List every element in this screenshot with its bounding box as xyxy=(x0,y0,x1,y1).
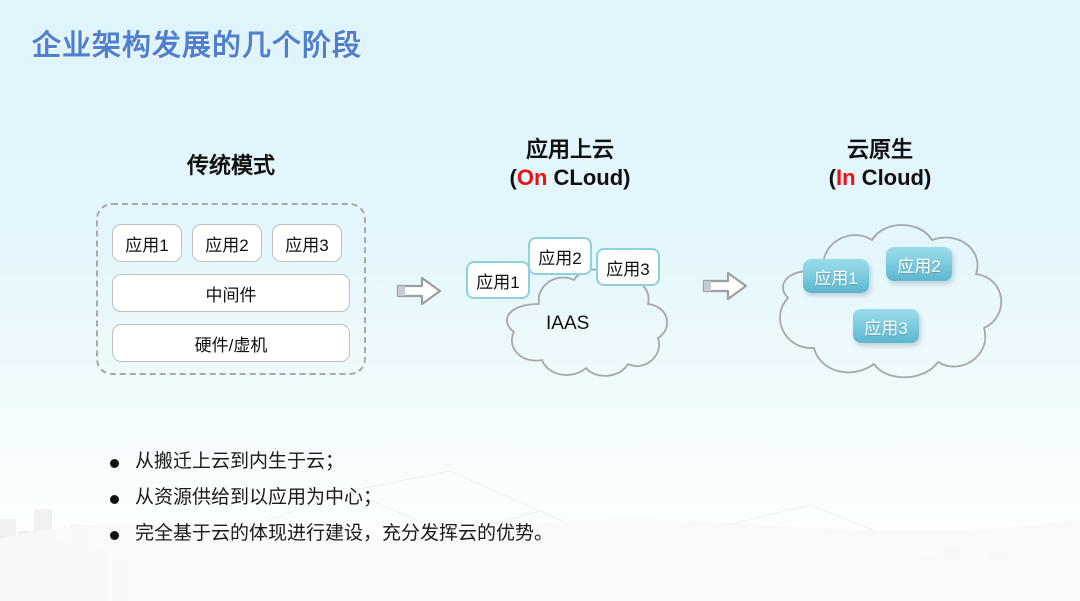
bullet-dot-icon xyxy=(110,459,119,468)
cloudnative-app-3[interactable]: 应用3 xyxy=(853,309,919,343)
oncloud-app-3[interactable]: 应用3 xyxy=(596,248,660,286)
cloudnative-app-2[interactable]: 应用2 xyxy=(886,247,952,281)
list-item: 从资源供给到以应用为中心； xyxy=(110,488,810,509)
heading-cloud-native-rest: Cloud xyxy=(856,165,924,190)
paren-open: ( xyxy=(829,165,836,190)
heading-traditional: 传统模式 xyxy=(96,152,366,180)
heading-cloud-native-highlight: In xyxy=(836,165,856,190)
heading-on-cloud-line1: 应用上云 xyxy=(450,136,690,164)
bullet-text: 从资源供给到以应用为中心； xyxy=(135,488,382,509)
heading-on-cloud-rest: CLoud xyxy=(547,165,623,190)
heading-on-cloud-highlight: On xyxy=(517,165,548,190)
bullet-text: 完全基于云的体现进行建设，充分发挥云的优势。 xyxy=(135,524,553,545)
heading-cloud-native: 云原生 (In Cloud) xyxy=(770,136,990,192)
heading-traditional-line1: 传统模式 xyxy=(96,152,366,180)
traditional-hardware[interactable]: 硬件/虚机 xyxy=(112,324,350,362)
slide-canvas: 企业架构发展的几个阶段 传统模式 应用1 应用2 应用3 中间件 硬件/虚机 应… xyxy=(0,0,1080,601)
bullet-dot-icon xyxy=(110,531,119,540)
arrow-traditional-to-oncloud xyxy=(396,275,442,312)
arrow-oncloud-to-cloudnative xyxy=(702,270,748,307)
bullet-text: 从搬迁上云到内生于云； xyxy=(135,452,344,473)
traditional-app-1[interactable]: 应用1 xyxy=(112,224,182,262)
traditional-app-2[interactable]: 应用2 xyxy=(192,224,262,262)
page-title: 企业架构发展的几个阶段 xyxy=(32,22,362,64)
cloud-native-cloud-shape xyxy=(766,216,1014,389)
traditional-app-3[interactable]: 应用3 xyxy=(272,224,342,262)
list-item: 完全基于云的体现进行建设，充分发挥云的优势。 xyxy=(110,524,810,545)
heading-on-cloud-line2: (On CLoud) xyxy=(450,164,690,192)
paren-close: ) xyxy=(924,165,931,190)
bullet-list: 从搬迁上云到内生于云； 从资源供给到以应用为中心； 完全基于云的体现进行建设，充… xyxy=(110,452,810,560)
paren-open: ( xyxy=(510,165,517,190)
heading-cloud-native-line1: 云原生 xyxy=(770,136,990,164)
heading-cloud-native-line2: (In Cloud) xyxy=(770,164,990,192)
iaas-label: IAAS xyxy=(546,313,589,335)
traditional-app-row: 应用1 应用2 应用3 xyxy=(112,224,342,262)
traditional-middleware[interactable]: 中间件 xyxy=(112,274,350,312)
oncloud-app-1[interactable]: 应用1 xyxy=(466,261,530,299)
heading-on-cloud: 应用上云 (On CLoud) xyxy=(450,136,690,192)
list-item: 从搬迁上云到内生于云； xyxy=(110,452,810,473)
bullet-dot-icon xyxy=(110,495,119,504)
oncloud-app-2[interactable]: 应用2 xyxy=(528,237,592,275)
paren-close: ) xyxy=(623,165,630,190)
cloudnative-app-1[interactable]: 应用1 xyxy=(803,259,869,293)
